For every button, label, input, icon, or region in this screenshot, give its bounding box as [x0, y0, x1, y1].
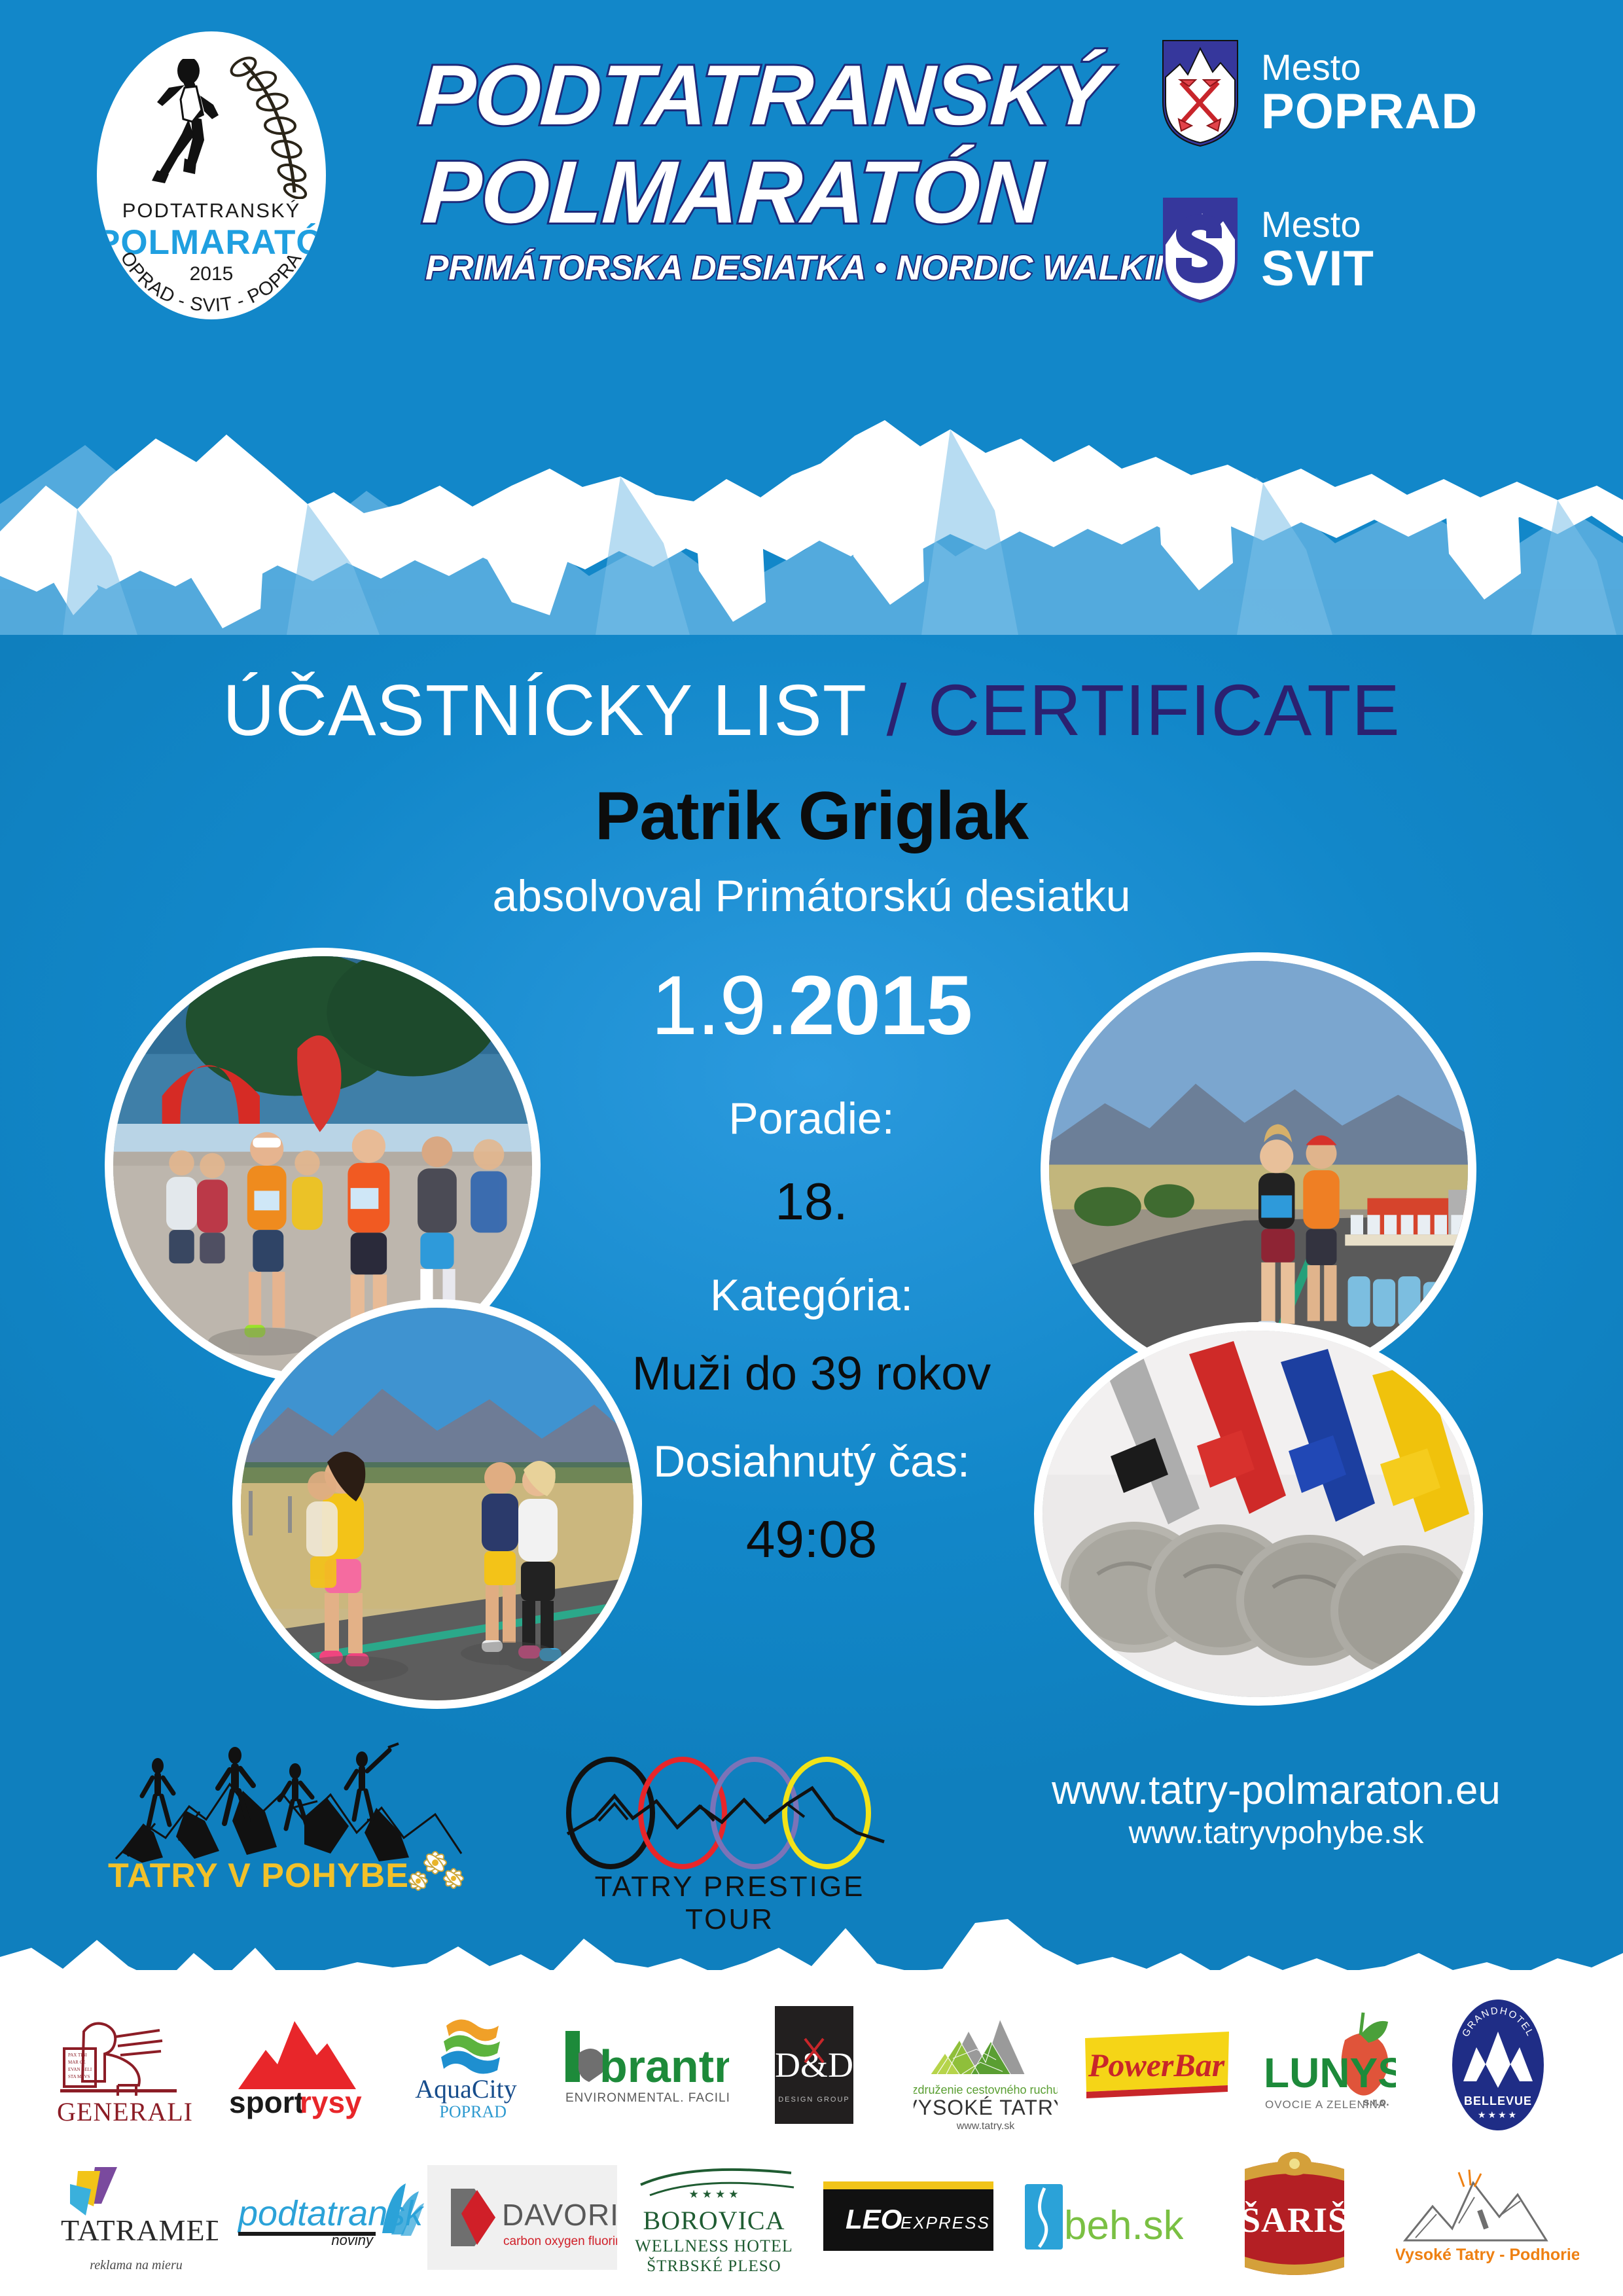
city-poprad-name: POPRAD	[1261, 86, 1478, 138]
race-date-year: 2015	[788, 959, 972, 1052]
davorin-label: DAVORIN	[502, 2198, 617, 2232]
lunys-logo: LUNYS OVOCIE A ZELENINA s.r.o.	[1258, 2006, 1396, 2124]
svg-text:rysy: rysy	[300, 2085, 362, 2119]
achievement-text: absolvoval Primátorskú desiatku	[0, 870, 1623, 922]
tatramedia-logo: TATRAMEDIA reklama na mieru	[54, 2155, 218, 2280]
vysoke-tatry-url: www.tatry.sk	[955, 2121, 1015, 2130]
tatramedia-sub: reklama na mieru	[90, 2258, 182, 2272]
sponsor-powerbar[interactable]: PowerBar	[1071, 1990, 1241, 2140]
result-block: 1.9.2015 Poradie: 18. Kategória: Muži do…	[484, 962, 1139, 1570]
sponsor-sportrysy[interactable]: sport rysy	[210, 1990, 381, 2140]
vysoke-tatry-logo: združenie cestovného ruchu VYSOKÉ TATRY …	[914, 2000, 1058, 2130]
behsk-label: beh.sk	[1064, 2203, 1183, 2248]
tatry-prestige-tour-logo[interactable]: TATRY PRESTIGE TOUR	[560, 1741, 900, 1905]
certificate-heading-sk: ÚČASTNÍCKY LIST	[223, 670, 886, 751]
event-title-line2: POLMARATÓN	[420, 148, 1115, 236]
vysoke-tatry-label: VYSOKÉ TATRY	[914, 2096, 1058, 2119]
brantner-logo: brantner ENVIRONMENTAL. FACILITY SERVICE…	[552, 2019, 729, 2111]
city-svit-prefix: Mesto	[1261, 206, 1374, 243]
svg-text:MAR CE: MAR CE	[68, 2060, 86, 2065]
leo-express-logo: LEO EXPRESS	[823, 2175, 993, 2260]
race-date: 1.9.2015	[484, 962, 1139, 1050]
rank-value: 18.	[484, 1172, 1139, 1232]
svg-text:★★★★: ★★★★	[688, 2188, 741, 2200]
certificate-page: PODTATRANSKÝ POLMARATÓN 2015 POPRAD - SV…	[0, 0, 1623, 2296]
mountain-range-graphic	[0, 340, 1623, 635]
vysoke-tatry-podhorie-logo: Vysoké Tatry - Podhorie	[1396, 2168, 1579, 2267]
svg-text:EVAN GELI: EVAN GELI	[68, 2067, 92, 2072]
url-secondary[interactable]: www.tatryvpohybe.sk	[962, 1814, 1590, 1853]
borovica-wellness-hotel-logo: ★★★★ BOROVICA WELLNESS HOTEL ŠTRBSKÉ PLE…	[630, 2159, 800, 2276]
bellevue-label: BELLEVUE	[1464, 2094, 1532, 2108]
category-value: Muži do 39 rokov	[484, 1347, 1139, 1401]
sponsor-strip: PAX TIBIMAR CE EVAN GELISTA MEVS GENERAL…	[0, 1990, 1623, 2296]
grandhotel-bellevue-logo: GRANDHOTEL BELLEVUE ★★★★	[1449, 1996, 1547, 2134]
sponsor-row-1: PAX TIBIMAR CE EVAN GELISTA MEVS GENERAL…	[39, 1990, 1584, 2140]
athlete-name: Patrik Griglak	[0, 778, 1623, 855]
express-sub: EXPRESS	[901, 2213, 990, 2233]
certificate-heading-en: / CERTIFICATE	[887, 670, 1400, 751]
event-title-line1: PODTATRANSKÝ	[417, 52, 1115, 137]
noviny-sub: noviny	[331, 2232, 374, 2248]
saris-label: ŠARIŠ	[1240, 2200, 1347, 2240]
borovica-label: BOROVICA	[643, 2206, 785, 2235]
tatramedia-label: TATRAMEDIA	[61, 2214, 218, 2247]
sponsor-vysoke-tatry-podhorie[interactable]: Vysoké Tatry - Podhorie	[1391, 2147, 1584, 2287]
sponsor-leo-express[interactable]: LEO EXPRESS	[811, 2147, 1005, 2287]
sponsor-borovica[interactable]: ★★★★ BOROVICA WELLNESS HOTEL ŠTRBSKÉ PLE…	[618, 2147, 811, 2287]
url-main[interactable]: www.tatry-polmaraton.eu	[962, 1767, 1590, 1814]
city-poprad: Mesto POPRAD	[1162, 39, 1478, 147]
city-poprad-prefix: Mesto	[1261, 49, 1478, 86]
aquacity-poprad-logo: AquaCity POPRAD	[391, 2006, 542, 2124]
race-date-day: 1.9.	[651, 959, 789, 1052]
event-emblem: PODTATRANSKÝ POLMARATÓN 2015 POPRAD - SV…	[97, 31, 326, 319]
time-value: 49:08	[484, 1509, 1139, 1570]
svit-coat-of-arms-icon	[1162, 196, 1239, 304]
sponsor-dd-group[interactable]: D&D DESIGN GROUP	[729, 1990, 900, 2140]
sponsor-behsk[interactable]: beh.sk	[1005, 2147, 1198, 2287]
saris-logo: ŠARIŠ	[1236, 2152, 1353, 2283]
sponsor-aquacity[interactable]: AquaCity POPRAD	[382, 1990, 552, 2140]
podtatranske-noviny-logo: podtatranské noviny	[234, 2172, 424, 2263]
dd-group-sub: DESIGN GROUP	[779, 2096, 851, 2104]
svg-text:sport: sport	[229, 2085, 304, 2119]
leo-label: LEO	[846, 2204, 902, 2234]
sponsor-saris[interactable]: ŠARIŠ	[1198, 2147, 1391, 2287]
powerbar-logo: PowerBar	[1081, 2029, 1232, 2101]
lunys-sro: s.r.o.	[1363, 2096, 1389, 2108]
sponsor-grandhotel-bellevue[interactable]: GRANDHOTEL BELLEVUE ★★★★	[1413, 1990, 1584, 2140]
svg-text:STA MEVS: STA MEVS	[68, 2074, 90, 2079]
vysoke-tatry-podhorie-label: Vysoké Tatry - Podhorie	[1396, 2246, 1579, 2264]
tatry-v-pohybe-logo[interactable]: TATRY V POHYBE	[108, 1728, 474, 1892]
time-label: Dosiahnutý čas:	[484, 1436, 1139, 1487]
sponsor-vysoke-tatry[interactable]: združenie cestovného ruchu VYSOKÉ TATRY …	[900, 1990, 1071, 2140]
davorin-logo: DAVORIN carbon oxygen fluorine	[427, 2165, 617, 2270]
powerbar-label: PowerBar	[1088, 2047, 1225, 2083]
event-subtitle: PRIMÁTORSKA DESIATKA • NORDIC WALKING	[425, 248, 1113, 288]
borovica-sub: WELLNESS HOTEL	[635, 2236, 793, 2255]
aquacity-label: AquaCity	[415, 2074, 517, 2104]
lunys-label: LUNYS	[1264, 2049, 1396, 2096]
header: PODTATRANSKÝ POLMARATÓN 2015 POPRAD - SV…	[0, 0, 1623, 367]
generali-logo: PAX TIBIMAR CE EVAN GELISTA MEVS GENERAL…	[50, 2003, 200, 2127]
dd-group-logo: D&D DESIGN GROUP	[775, 2006, 853, 2124]
emblem-route: POPRAD - SVIT - POPRAD	[97, 31, 306, 316]
svg-text:POPRAD - SVIT - POPRAD: POPRAD - SVIT - POPRAD	[97, 31, 306, 316]
event-urls: www.tatry-polmaraton.eu www.tatryvpohybe…	[962, 1767, 1590, 1853]
vysoke-tatry-sub: združenie cestovného ruchu	[914, 2083, 1058, 2096]
sportrysy-logo: sport rysy	[217, 2009, 374, 2121]
sponsor-tatramedia[interactable]: TATRAMEDIA reklama na mieru	[39, 2147, 232, 2287]
bellevue-stars: ★★★★	[1478, 2109, 1518, 2120]
rank-label: Poradie:	[484, 1093, 1139, 1144]
sponsor-podtatranske-noviny[interactable]: podtatranské noviny	[232, 2147, 425, 2287]
aquacity-sub: POPRAD	[440, 2102, 507, 2121]
poprad-coat-of-arms-icon	[1162, 39, 1239, 147]
certificate-heading: ÚČASTNÍCKY LIST / CERTIFICATE	[0, 669, 1623, 752]
category-label: Kategória:	[484, 1270, 1139, 1321]
event-title-block: PODTATRANSKÝ POLMARATÓN PRIMÁTORSKA DESI…	[419, 52, 1113, 288]
brantner-label: brantner	[599, 2041, 729, 2092]
city-svit-name: SVIT	[1261, 243, 1374, 295]
brantner-sub: ENVIRONMENTAL. FACILITY SERVICES	[565, 2091, 729, 2105]
sponsor-brantner[interactable]: brantner ENVIRONMENTAL. FACILITY SERVICE…	[552, 1990, 729, 2140]
davorin-sub: carbon oxygen fluorine	[503, 2234, 617, 2248]
sponsor-lunys[interactable]: LUNYS OVOCIE A ZELENINA s.r.o.	[1242, 1990, 1413, 2140]
city-svit: Mesto SVIT	[1162, 196, 1374, 304]
borovica-sub2: ŠTRBSKÉ PLESO	[647, 2256, 781, 2275]
sponsor-row-2: TATRAMEDIA reklama na mieru podtatranské…	[39, 2147, 1584, 2287]
behsk-logo: beh.sk	[1020, 2175, 1183, 2260]
sponsor-davorin[interactable]: DAVORIN carbon oxygen fluorine	[425, 2147, 618, 2287]
generali-label: GENERALI	[57, 2097, 193, 2126]
sponsor-generali[interactable]: PAX TIBIMAR CE EVAN GELISTA MEVS GENERAL…	[39, 1990, 210, 2140]
svg-text:PAX TIBI: PAX TIBI	[68, 2053, 87, 2058]
emblem-route-arc: POPRAD - SVIT - POPRAD	[97, 31, 326, 319]
